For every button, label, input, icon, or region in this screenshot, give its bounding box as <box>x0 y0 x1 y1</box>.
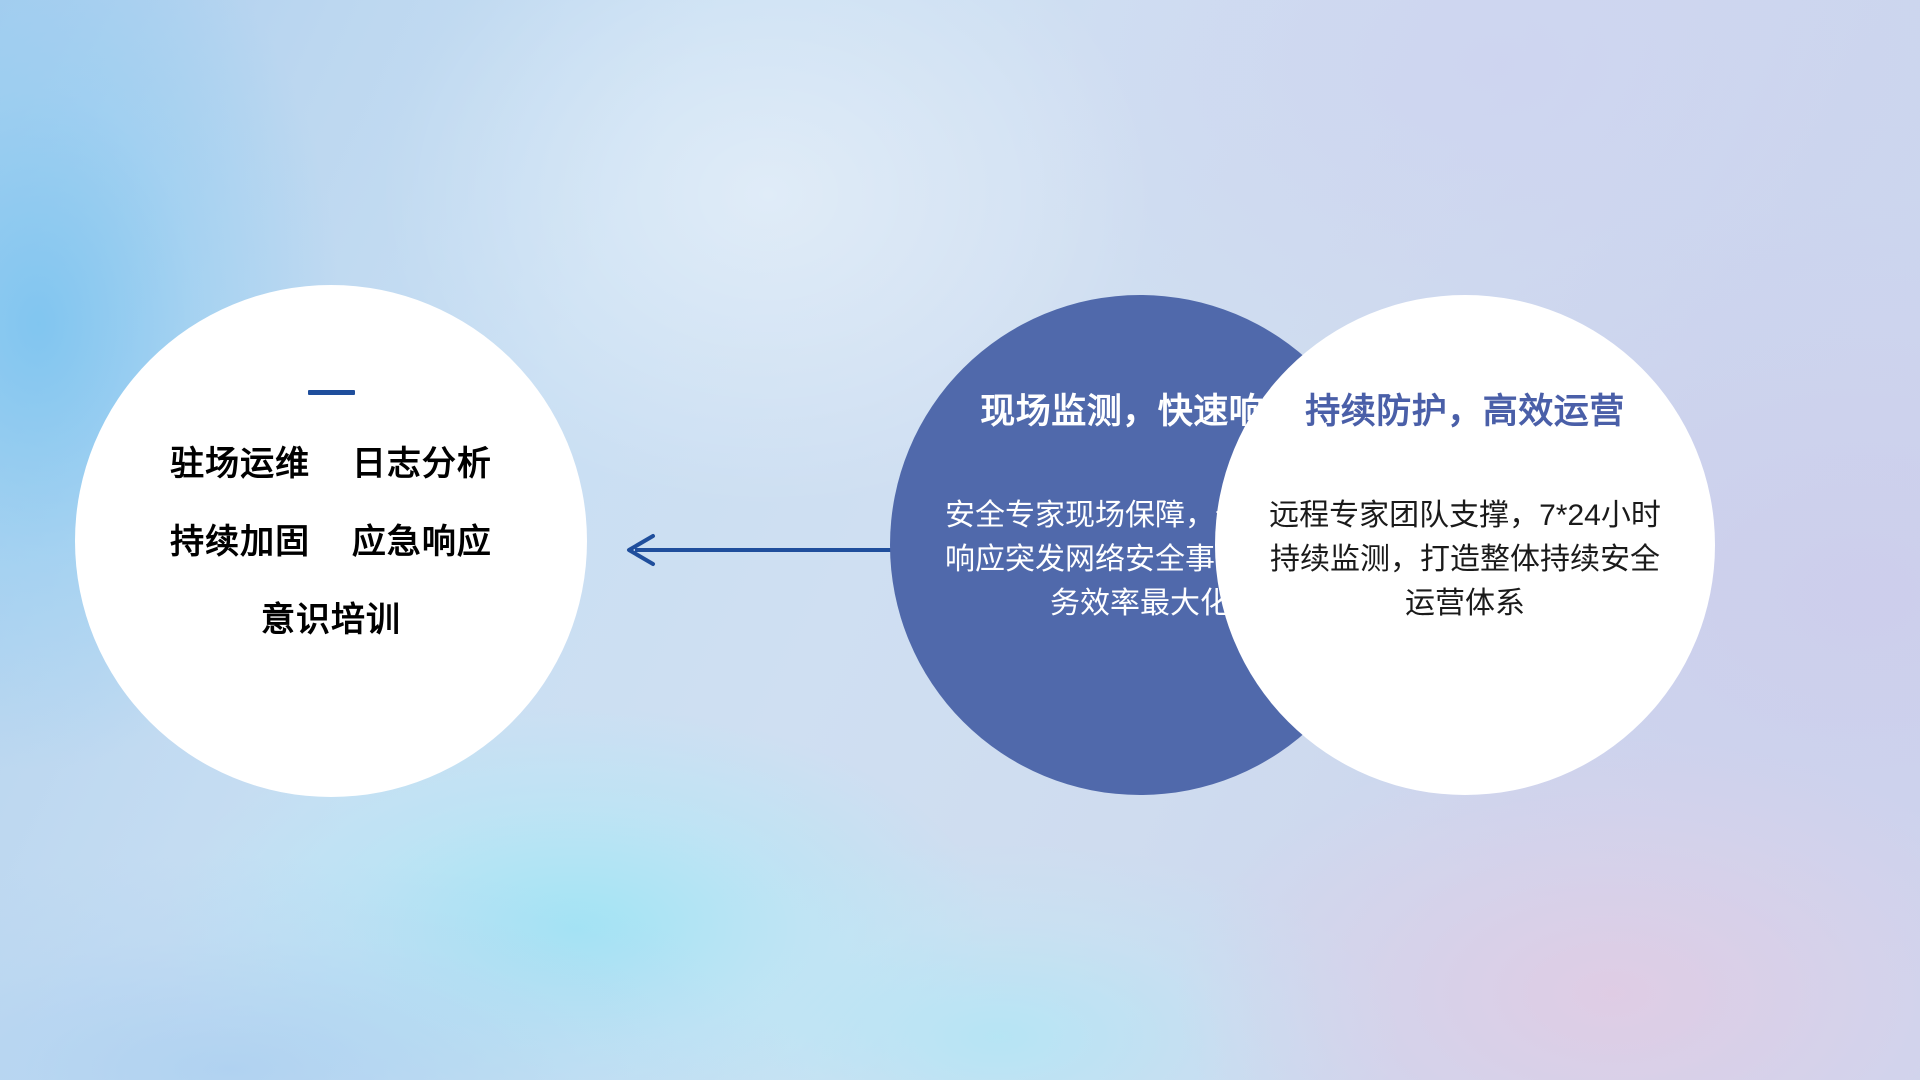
keyword-row-1: 驻场运维 日志分析 <box>116 447 546 481</box>
accent-dash-icon <box>308 390 355 395</box>
continuous-protection-title: 持续防护，高效运营 <box>1265 393 1665 432</box>
slide-canvas: 驻场运维 日志分析 持续加固 应急响应 意识培训 现场监测，快速响应 安全专家现… <box>0 0 1920 1080</box>
keyword-row-2: 持续加固 应急响应 <box>116 525 546 559</box>
continuous-protection-body: 远程专家团队支撑，7*24小时持续监测，打造整体持续安全运营体系 <box>1265 494 1665 627</box>
keywords-content: 驻场运维 日志分析 持续加固 应急响应 意识培训 <box>116 390 546 637</box>
arrow-left-icon <box>615 520 895 580</box>
continuous-protection-circle: 持续防护，高效运营 远程专家团队支撑，7*24小时持续监测，打造整体持续安全运营… <box>1215 295 1715 795</box>
keyword-row-3: 意识培训 <box>116 603 546 637</box>
keywords-circle: 驻场运维 日志分析 持续加固 应急响应 意识培训 <box>75 285 587 797</box>
continuous-protection-content: 持续防护，高效运营 远程专家团队支撑，7*24小时持续监测，打造整体持续安全运营… <box>1265 393 1665 627</box>
